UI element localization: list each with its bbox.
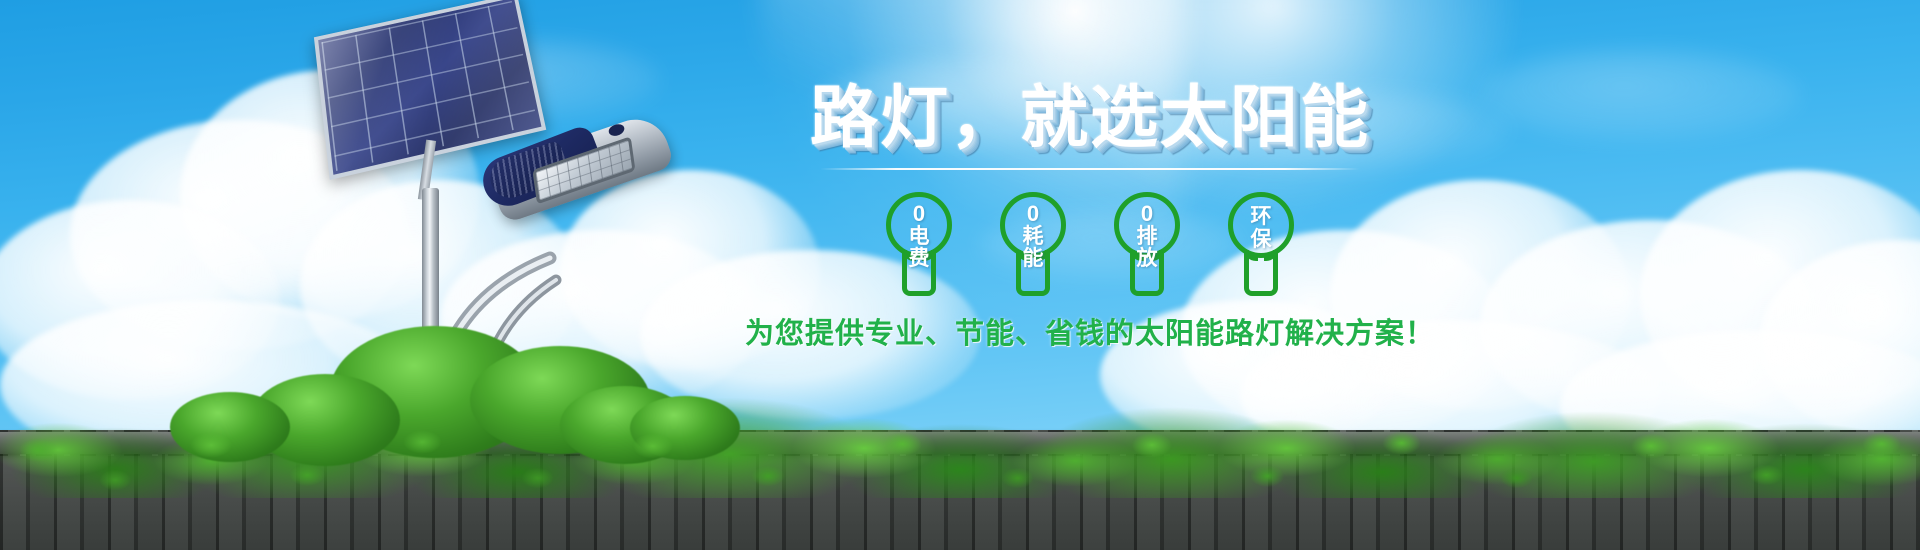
title-divider (820, 168, 1360, 170)
feature-badge-list: 0 电 费 0 耗 能 0 排 放 (740, 192, 1440, 296)
feature-badge-eco-friendly[interactable]: 环 保 (1219, 192, 1303, 296)
feature-badge-zero-emission[interactable]: 0 排 放 (1105, 192, 1189, 296)
wispy-cloud (1480, 50, 1800, 140)
feature-badge-label: 环 保 (1219, 192, 1303, 296)
feature-badge-label: 0 排 放 (1105, 192, 1189, 296)
feature-badge-number: 0 (1141, 202, 1153, 226)
feature-badge-text: 环 保 (1251, 206, 1272, 251)
feature-badge-number: 0 (913, 202, 925, 226)
feature-badge-text: 电 费 (909, 226, 930, 271)
feature-badge-text: 排 放 (1137, 226, 1158, 271)
feature-badge-zero-energy-consumption[interactable]: 0 耗 能 (991, 192, 1075, 296)
banner-text-block: 路灯，就选太阳能 0 电 费 0 耗 能 (740, 84, 1440, 352)
page-title: 路灯，就选太阳能 (740, 84, 1440, 152)
feature-badge-number: 0 (1027, 202, 1039, 226)
feature-badge-text: 耗 能 (1023, 226, 1044, 271)
feature-badge-label: 0 耗 能 (991, 192, 1075, 296)
solar-street-light-banner: 路灯，就选太阳能 0 电 费 0 耗 能 (0, 0, 1920, 550)
vine-foliage (0, 420, 1920, 520)
feature-badge-zero-electricity-cost[interactable]: 0 电 费 (877, 192, 961, 296)
feature-badge-label: 0 电 费 (877, 192, 961, 296)
foreground-ground (0, 370, 1920, 550)
banner-subtitle: 为您提供专业、节能、省钱的太阳能路灯解决方案！ (740, 310, 1440, 352)
